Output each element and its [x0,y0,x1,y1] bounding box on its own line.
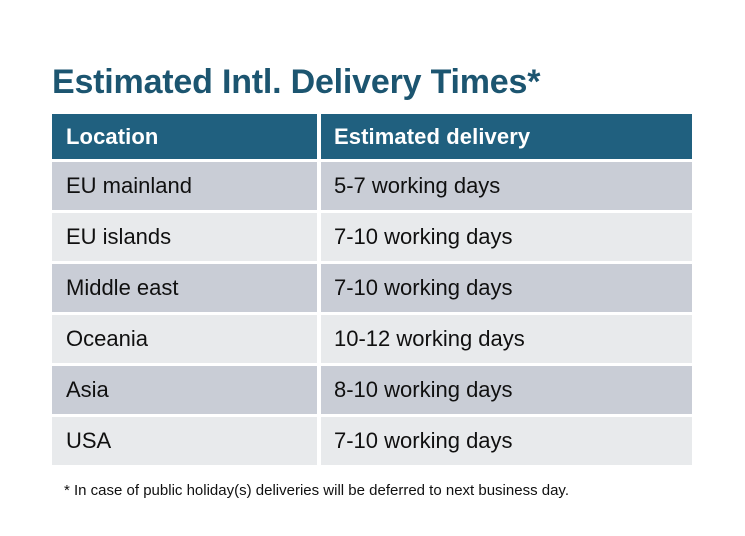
cell-estimated-delivery: 7-10 working days [321,213,692,261]
table-row: Asia 8-10 working days [52,366,692,414]
cell-location: Asia [52,366,317,414]
cell-location: EU mainland [52,162,317,210]
cell-location: EU islands [52,213,317,261]
cell-estimated-delivery: 7-10 working days [321,417,692,465]
table-row: Oceania 10-12 working days [52,315,692,363]
column-header-estimated-delivery: Estimated delivery [321,114,692,159]
cell-estimated-delivery: 5-7 working days [321,162,692,210]
column-header-location: Location [52,114,317,159]
table-row: USA 7-10 working days [52,417,692,465]
cell-location: Middle east [52,264,317,312]
table-row: EU mainland 5-7 working days [52,162,692,210]
cell-estimated-delivery: 8-10 working days [321,366,692,414]
footnote-text: * In case of public holiday(s) deliverie… [64,481,724,501]
page-title: Estimated Intl. Delivery Times* [52,59,702,105]
table-header-row: Location Estimated delivery [52,114,692,159]
table-row: Middle east 7-10 working days [52,264,692,312]
cell-estimated-delivery: 10-12 working days [321,315,692,363]
delivery-times-table: Location Estimated delivery EU mainland … [52,114,692,465]
table-row: EU islands 7-10 working days [52,213,692,261]
cell-estimated-delivery: 7-10 working days [321,264,692,312]
delivery-times-page: Estimated Intl. Delivery Times* Location… [0,0,745,536]
cell-location: Oceania [52,315,317,363]
cell-location: USA [52,417,317,465]
